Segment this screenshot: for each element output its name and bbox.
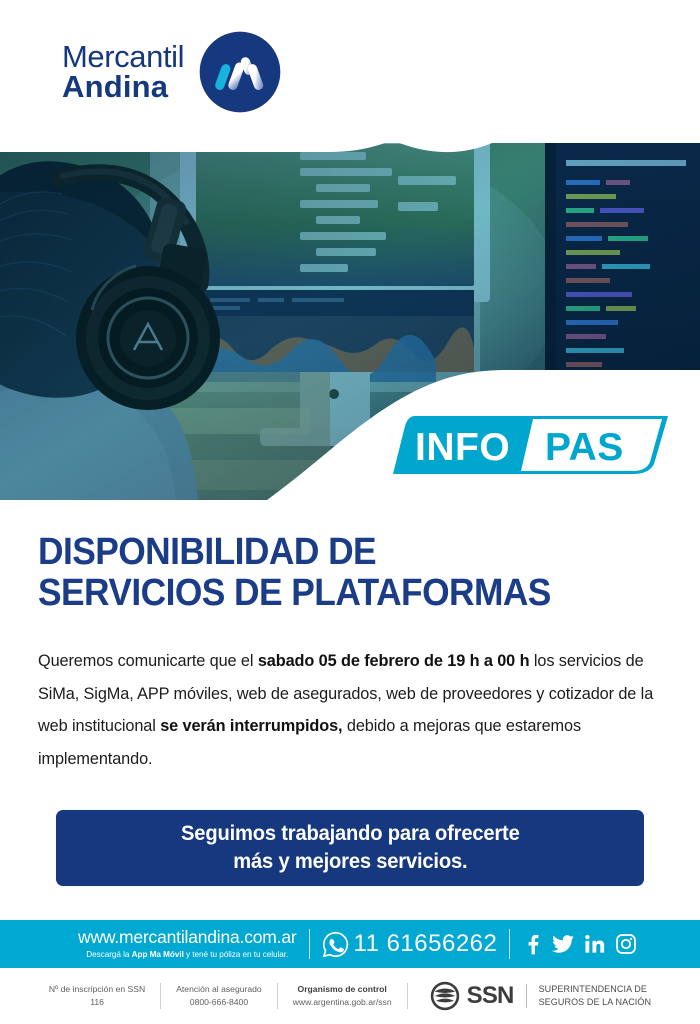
- facebook-icon[interactable]: [524, 933, 541, 955]
- footer-divider-1: [309, 929, 310, 959]
- ssn-registration-column: Nº de inscripción en SSN 116: [49, 983, 160, 1010]
- cta-banner: Seguimos trabajando para ofrecerte más y…: [56, 810, 644, 886]
- main-content: DISPONIBILIDAD DE SERVICIOS DE PLATAFORM…: [0, 500, 700, 775]
- whatsapp-phone-block[interactable]: 11 61656262: [322, 930, 498, 958]
- mercantil-andina-logomark-icon: [198, 30, 282, 114]
- paragraph-part-1: Queremos comunicarte que el: [38, 652, 258, 670]
- instagram-icon[interactable]: [616, 934, 636, 954]
- ssn-full-name: SUPERINTENDENCIA DE SEGUROS DE LA NACIÓN: [539, 983, 652, 1009]
- twitter-icon[interactable]: [552, 934, 574, 954]
- ssn-regulatory-footer: Nº de inscripción en SSN 116 Atención al…: [0, 968, 700, 1024]
- brand-line-2: Andina: [62, 72, 184, 102]
- brand-wordmark: Mercantil Andina: [62, 42, 184, 102]
- ssn-wordmark: SSN: [467, 982, 514, 1010]
- app-promo-prefix: Descargá la: [86, 950, 131, 959]
- app-promo-bold: App Ma Móvil: [132, 950, 184, 959]
- ssn-support-label: Atención al asegurado: [176, 983, 262, 996]
- cta-text: Seguimos trabajando para ofrecerte más y…: [181, 820, 520, 877]
- linkedin-icon[interactable]: [585, 934, 605, 954]
- ssn-registration-value: 116: [49, 996, 145, 1009]
- social-links: [524, 933, 636, 955]
- website-url[interactable]: www.mercantilandina.com.ar: [78, 929, 297, 947]
- ssn-divider-3: [407, 983, 408, 1009]
- ssn-control-column: Organismo de control www.argentina.gob.a…: [278, 983, 407, 1010]
- footer-divider-2: [509, 929, 510, 959]
- ssn-control-label: Organismo de control: [293, 983, 392, 996]
- ssn-registration-label: Nº de inscripción en SSN: [49, 983, 145, 996]
- brand-logo[interactable]: Mercantil Andina: [62, 30, 282, 114]
- paragraph-bold-date: sabado 05 de febrero de 19 h a 00 h: [258, 652, 530, 670]
- app-promo-suffix: y tené tu póliza en tu celular.: [184, 950, 288, 959]
- page-title: DISPONIBILIDAD DE SERVICIOS DE PLATAFORM…: [38, 532, 654, 614]
- brand-line-1: Mercantil: [62, 42, 184, 72]
- ssn-support-value: 0800-666-8400: [176, 996, 262, 1009]
- ssn-logo: SSN SUPERINTENDENCIA DE SEGUROS DE LA NA…: [430, 981, 651, 1011]
- infopas-flyer: Mercantil Andina: [0, 0, 700, 1024]
- paragraph-bold-interrupted: se verán interrumpidos,: [160, 717, 342, 735]
- app-promo-text: Descargá la App Ma Móvil y tené tu póliz…: [86, 951, 288, 959]
- phone-number[interactable]: 11 61656262: [354, 930, 498, 958]
- info-label: INFO: [415, 426, 510, 470]
- info-pas-badge: INFO PAS: [393, 416, 668, 474]
- whatsapp-icon: [322, 931, 349, 958]
- ssn-logo-divider: [526, 984, 527, 1008]
- body-paragraph: Queremos comunicarte que el sabado 05 de…: [38, 645, 662, 775]
- ssn-control-value[interactable]: www.argentina.gob.ar/ssn: [293, 996, 392, 1009]
- ssn-logo-icon: [430, 981, 460, 1011]
- ssn-support-column: Atención al asegurado 0800-666-8400: [161, 983, 277, 1010]
- contact-footer-bar: www.mercantilandina.com.ar Descargá la A…: [0, 920, 700, 968]
- pas-label: PAS: [545, 426, 624, 470]
- header: Mercantil Andina: [0, 0, 700, 143]
- website-block[interactable]: www.mercantilandina.com.ar Descargá la A…: [78, 929, 297, 959]
